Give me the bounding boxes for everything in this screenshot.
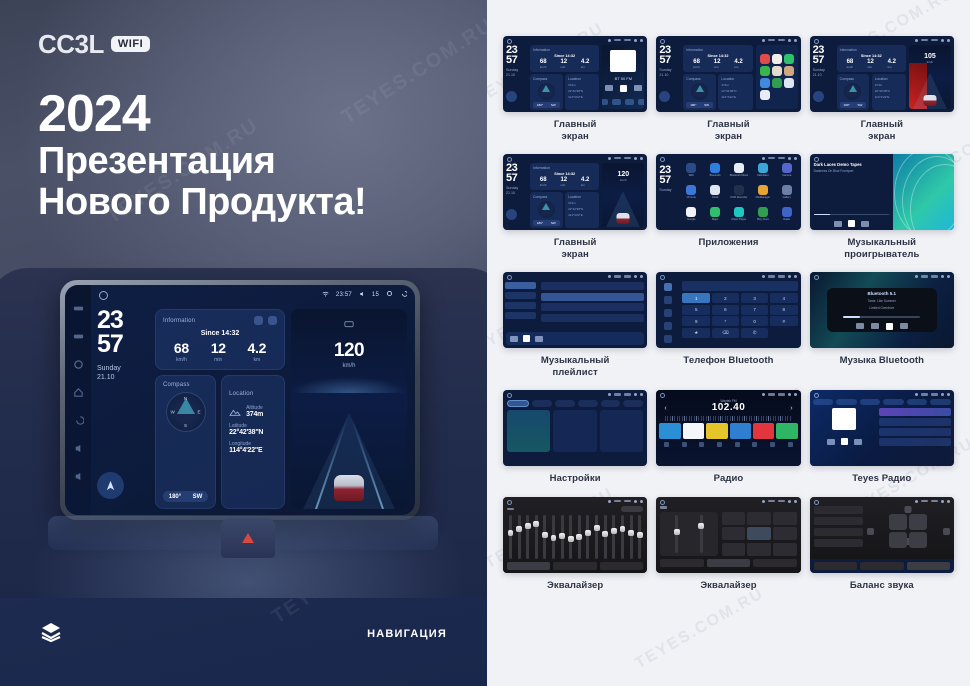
phone-tab[interactable] <box>664 296 672 304</box>
location-card[interactable]: Location 374m 22°42'38"N 114°4'22"E <box>718 74 752 110</box>
eq-preset-cell[interactable] <box>722 527 745 540</box>
app-icon[interactable] <box>784 78 794 88</box>
dialpad-key[interactable]: 9 <box>682 316 710 326</box>
balance-row[interactable] <box>814 539 863 547</box>
rail-back-icon[interactable] <box>73 413 84 424</box>
screenshot-thumbnail[interactable]: 23 57 Sunday 21.10 Information Since 14:… <box>503 154 647 230</box>
screenshot-thumbnail[interactable] <box>503 390 647 466</box>
compass-card[interactable]: Compass 180° SW <box>683 74 716 110</box>
eq-band-slider[interactable] <box>552 515 555 559</box>
dialpad-key[interactable]: # <box>770 316 798 326</box>
grid-item[interactable]: Баланс звука <box>810 497 954 592</box>
eq-slider-knob[interactable] <box>620 526 626 532</box>
rail-gear-icon[interactable] <box>73 357 84 368</box>
eq-slider-knob[interactable] <box>508 530 514 536</box>
app-icon[interactable] <box>710 163 720 173</box>
settings-tab[interactable] <box>555 400 575 407</box>
head-unit-screen[interactable]: 23:57 15 <box>65 285 415 515</box>
eq-slider-knob[interactable] <box>568 536 574 542</box>
back-icon[interactable] <box>947 393 950 396</box>
eq-slider-knob[interactable] <box>602 531 608 537</box>
screenshot-thumbnail[interactable]: 23 57 Sunday 21.10 Information Since 14:… <box>656 36 800 112</box>
back-icon[interactable] <box>947 39 950 42</box>
eq-footer-button[interactable] <box>660 559 703 567</box>
radio-preset[interactable] <box>776 423 797 439</box>
app-icon[interactable] <box>784 66 794 76</box>
location-card[interactable]: Location 374m 22°42'38"N 114°4'22"E <box>872 74 906 110</box>
app-item[interactable]: Camera <box>776 163 798 183</box>
app-shortcuts-widget[interactable] <box>756 45 798 109</box>
play-pause-button[interactable] <box>848 220 855 227</box>
back-icon[interactable] <box>640 500 643 503</box>
balance-up-button[interactable] <box>905 506 912 513</box>
dialpad-key[interactable]: 1 <box>682 293 710 303</box>
radio-toolbar-icon[interactable] <box>752 442 757 447</box>
app-icon[interactable] <box>772 78 782 88</box>
eq-band-slider[interactable] <box>526 515 529 559</box>
home-icon[interactable] <box>814 275 819 280</box>
teyes-radio-tab[interactable] <box>836 399 857 405</box>
radio-toolbar-icon[interactable] <box>735 442 740 447</box>
balance-left-button[interactable] <box>867 528 874 535</box>
prev-station-button[interactable]: ‹ <box>664 405 666 412</box>
information-card[interactable]: Information Since 14:32 68 km/h 12 min 4… <box>837 45 906 72</box>
app-icon[interactable] <box>686 207 696 217</box>
hud-panel[interactable]: 120 km/h <box>291 309 407 509</box>
next-button[interactable] <box>900 323 908 329</box>
app-item[interactable]: Radio <box>776 207 798 227</box>
gear-icon[interactable] <box>941 275 944 278</box>
prev-button[interactable] <box>834 221 842 227</box>
tab[interactable] <box>602 99 608 105</box>
eq-band-slider[interactable] <box>561 515 564 559</box>
prev-button[interactable] <box>510 336 518 342</box>
app-item[interactable]: Clock <box>704 185 726 205</box>
back-icon[interactable] <box>794 275 797 278</box>
track-row[interactable] <box>541 303 645 311</box>
grid-item[interactable]: 123456789*0# ★ ⌫ ✆ Телефон Bluetooth <box>656 272 800 378</box>
gear-icon[interactable] <box>788 393 791 396</box>
settings-tab[interactable] <box>578 400 598 407</box>
phone-tab[interactable] <box>664 309 672 317</box>
app-icon[interactable] <box>782 207 792 217</box>
now-playing-bar[interactable] <box>506 332 644 345</box>
eq-preset-cell[interactable] <box>747 512 770 525</box>
screen-side-rail[interactable] <box>65 285 91 515</box>
balance-row[interactable] <box>814 506 863 514</box>
dialpad-key[interactable]: 5 <box>682 305 710 315</box>
app-item[interactable]: Google <box>680 207 702 227</box>
grid-item[interactable]: Waytek FM ‹ 102.40 › Радио <box>656 390 800 485</box>
eq-preset-cell[interactable] <box>747 543 770 556</box>
teyes-radio-tab[interactable] <box>860 399 881 405</box>
grid-item[interactable]: 23 57 Sunday 21.10 Information Since 14:… <box>810 36 954 142</box>
backspace-button[interactable]: ⌫ <box>712 328 740 338</box>
dialpad-key[interactable]: 2 <box>712 293 740 303</box>
information-card[interactable]: Information Since 14:32 68 km/h 12 min 4… <box>530 45 599 72</box>
radio-toolbar-icon[interactable] <box>699 442 704 447</box>
bass-slider[interactable] <box>675 515 678 553</box>
grid-item[interactable]: Эквалайзер <box>656 497 800 592</box>
screenshot-thumbnail[interactable] <box>503 497 647 573</box>
screenshot-thumbnail[interactable] <box>656 497 800 573</box>
gear-icon[interactable] <box>941 39 944 42</box>
eq-slider-knob[interactable] <box>637 532 643 538</box>
station-row[interactable] <box>879 408 951 416</box>
gear-icon[interactable] <box>386 290 393 299</box>
eq-band-slider[interactable] <box>638 515 641 559</box>
number-input[interactable] <box>682 281 797 291</box>
rail-mode-icon[interactable] <box>73 329 84 340</box>
settings-tab[interactable] <box>623 400 643 407</box>
play-pause-button[interactable] <box>871 323 879 329</box>
app-item[interactable]: Maps <box>704 207 726 227</box>
back-icon[interactable] <box>794 39 797 42</box>
grid-item[interactable]: Музыкальныйплейлист <box>503 272 647 378</box>
refresh-icon[interactable] <box>254 316 263 325</box>
rail-home-icon[interactable] <box>73 385 84 396</box>
app-icon[interactable] <box>782 185 792 195</box>
eq-slider-knob[interactable] <box>585 530 591 536</box>
gear-icon[interactable] <box>941 500 944 503</box>
back-icon[interactable] <box>640 393 643 396</box>
balance-row[interactable] <box>814 517 863 525</box>
app-icon[interactable] <box>760 66 770 76</box>
screenshot-thumbnail[interactable]: 23 57 Sunday WiFi Bluetooth Bluetooth Mu… <box>656 154 800 230</box>
radio-preset[interactable] <box>730 423 751 439</box>
treble-slider[interactable] <box>700 515 703 553</box>
radio-preset[interactable] <box>706 423 727 439</box>
balance-footer-button[interactable] <box>860 562 903 570</box>
dialpad-key[interactable]: * <box>712 316 740 326</box>
compass-card[interactable]: Compass 180° SW <box>530 74 563 110</box>
eq-footer-button[interactable] <box>707 559 750 567</box>
favorites-button[interactable]: ★ <box>682 328 710 338</box>
eq-slider-knob[interactable] <box>594 525 600 531</box>
balance-footer-button[interactable] <box>814 562 857 570</box>
screenshot-thumbnail[interactable]: Bluetooth 5.1 Taste. Like Summer Limited… <box>810 272 954 348</box>
progress-bar[interactable] <box>843 316 920 318</box>
app-icon[interactable] <box>758 163 768 173</box>
screenshot-thumbnail[interactable] <box>810 497 954 573</box>
app-icon[interactable] <box>686 185 696 195</box>
eq-band-slider[interactable] <box>595 515 598 559</box>
app-item[interactable]: FileManager <box>752 185 774 205</box>
balance-footer-button[interactable] <box>907 562 950 570</box>
next-button[interactable] <box>861 221 869 227</box>
teyes-radio-tab[interactable] <box>883 399 904 405</box>
rail-volume-up-icon[interactable] <box>73 469 84 480</box>
eq-band-slider[interactable] <box>621 515 624 559</box>
clock-minutes: 57 <box>506 55 527 65</box>
dialpad-key[interactable]: 6 <box>712 305 740 315</box>
app-item[interactable]: Calculator <box>752 163 774 183</box>
eq-slider-knob[interactable] <box>611 528 617 534</box>
dialpad: 123456789*0# ★ ⌫ ✆ <box>682 293 797 338</box>
phone-tab[interactable] <box>664 335 672 343</box>
gear-icon[interactable] <box>788 500 791 503</box>
hud-panel[interactable]: 105 km/h <box>909 45 951 109</box>
grid-item[interactable]: Эквалайзер <box>503 497 647 592</box>
eq-preset-cell[interactable] <box>747 527 770 540</box>
eq-band-slider[interactable] <box>612 515 615 559</box>
eq-band-slider[interactable] <box>578 515 581 559</box>
home-icon[interactable] <box>660 157 665 162</box>
tab[interactable] <box>612 99 621 105</box>
track-row[interactable] <box>541 282 645 290</box>
compass-card[interactable]: Compass 180° SW <box>837 74 870 110</box>
eq-band-slider[interactable] <box>604 515 607 559</box>
information-card[interactable]: Information Since 14:32 68 km/h 12 min 4… <box>530 163 599 190</box>
eq-slider-knob[interactable] <box>576 534 582 540</box>
app-icon[interactable] <box>710 185 720 195</box>
eq-slider-knob[interactable] <box>516 526 522 532</box>
compass-card[interactable]: Compass N S E W <box>155 375 216 509</box>
radio-toolbar-icon[interactable] <box>788 442 793 447</box>
app-icon[interactable] <box>734 163 744 173</box>
dialpad-key[interactable]: 8 <box>770 305 798 315</box>
app-item[interactable]: Chrome <box>680 185 702 205</box>
back-icon[interactable] <box>794 393 797 396</box>
screenshot-thumbnail[interactable]: 23 57 Sunday 21.10 Information Since 14:… <box>503 36 647 112</box>
back-icon[interactable] <box>640 157 643 160</box>
back-icon[interactable] <box>640 275 643 278</box>
app-icon[interactable] <box>734 185 744 195</box>
settings-tab[interactable] <box>532 400 552 407</box>
dialpad-key[interactable]: 7 <box>741 305 769 315</box>
eq-preset-cell[interactable] <box>722 512 745 525</box>
stop-button[interactable] <box>841 438 848 445</box>
back-icon[interactable] <box>947 275 950 278</box>
dialpad-key[interactable]: 3 <box>741 293 769 303</box>
app-item[interactable]: DVR Recorder <box>728 185 750 205</box>
balance-row[interactable] <box>814 528 863 536</box>
app-item[interactable]: Bluetooth <box>704 163 726 183</box>
gear-icon[interactable] <box>634 157 637 160</box>
screenshot-thumbnail[interactable]: 123456789*0# ★ ⌫ ✆ <box>656 272 800 348</box>
screenshot-thumbnail[interactable]: Waytek FM ‹ 102.40 › <box>656 390 800 466</box>
radio-toolbar-icon[interactable] <box>664 442 669 447</box>
grid-item[interactable]: Bluetooth 5.1 Taste. Like Summer Limited… <box>810 272 954 378</box>
progress-bar[interactable] <box>814 214 890 216</box>
navigation-button[interactable] <box>97 472 124 499</box>
latitude-value: 22°42'38"N <box>568 207 596 211</box>
radio-preset[interactable] <box>659 423 680 439</box>
back-icon[interactable] <box>947 500 950 503</box>
app-icon[interactable] <box>758 207 768 217</box>
playlist-tab[interactable] <box>505 302 536 309</box>
settings-tab[interactable] <box>601 400 621 407</box>
app-icon[interactable] <box>734 207 744 217</box>
screenshot-thumbnail[interactable] <box>503 272 647 348</box>
eq-slider-knob[interactable] <box>525 523 531 529</box>
clock-day: Sunday <box>97 364 149 373</box>
screenshot-thumbnail[interactable]: 23 57 Sunday 21.10 Information Since 14:… <box>810 36 954 112</box>
rail-power-icon[interactable] <box>73 301 84 312</box>
eq-footer-button[interactable] <box>507 562 550 570</box>
gear-icon[interactable] <box>634 500 637 503</box>
dialpad-key[interactable]: 0 <box>741 316 769 326</box>
frequency-scale[interactable] <box>665 416 791 421</box>
eq-band-slider[interactable] <box>586 515 589 559</box>
eq-preset-cell[interactable] <box>722 543 745 556</box>
home-icon[interactable] <box>814 157 819 162</box>
prev-button[interactable] <box>605 85 613 91</box>
prev-button[interactable] <box>856 323 864 329</box>
grid-item[interactable]: 23 57 Sunday 21.10 Information Since 14:… <box>503 154 647 260</box>
grid-item[interactable]: 23 57 Sunday 21.10 Information Since 14:… <box>503 36 647 142</box>
gear-icon[interactable] <box>634 39 637 42</box>
navigation-button[interactable] <box>659 91 670 102</box>
eq-band-slider[interactable] <box>543 515 546 559</box>
app-icon[interactable] <box>758 185 768 195</box>
eq-preset-button[interactable] <box>621 506 643 512</box>
playback-controls <box>814 220 890 227</box>
hud-panel[interactable]: 120 km/h <box>602 163 644 227</box>
dialpad-key[interactable]: 4 <box>770 293 798 303</box>
radio-preset[interactable] <box>683 423 704 439</box>
home-icon[interactable] <box>99 291 108 300</box>
eq-preset-cell[interactable] <box>773 543 796 556</box>
app-icon[interactable] <box>782 163 792 173</box>
teyes-radio-tab[interactable] <box>930 399 951 405</box>
screenshot-thumbnail[interactable]: Dark Laces Demo Tapes Darkness On Blue F… <box>810 154 954 230</box>
rail-volume-down-icon[interactable] <box>73 441 84 452</box>
stop-button[interactable] <box>886 323 893 330</box>
app-item[interactable]: Play Store <box>752 207 774 227</box>
call-button[interactable]: ✆ <box>741 328 769 338</box>
app-item[interactable]: Bluetooth Music <box>728 163 750 183</box>
back-icon[interactable] <box>640 39 643 42</box>
play-pause-button[interactable] <box>523 335 530 342</box>
settings-card[interactable] <box>553 410 596 452</box>
phone-tab[interactable] <box>664 283 672 291</box>
grid-item[interactable]: 23 57 Sunday 21.10 Information Since 14:… <box>656 36 800 142</box>
gear-icon[interactable] <box>941 393 944 396</box>
track-row[interactable] <box>541 314 645 322</box>
eq-slider-knob[interactable] <box>551 535 557 541</box>
stop-button[interactable] <box>620 85 627 92</box>
radio-toolbar-icon[interactable] <box>770 442 775 447</box>
app-icon[interactable] <box>784 54 794 64</box>
expand-icon[interactable] <box>268 316 277 325</box>
next-button[interactable] <box>854 439 862 445</box>
playlist-tab[interactable] <box>505 282 536 289</box>
clock-date: 21.10 <box>813 73 834 78</box>
navigation-button[interactable] <box>506 209 517 220</box>
gear-icon[interactable] <box>634 393 637 396</box>
app-icon[interactable] <box>760 90 770 100</box>
app-item[interactable]: Music Player <box>728 207 750 227</box>
app-icon[interactable] <box>760 54 770 64</box>
settings-card[interactable] <box>600 410 643 452</box>
playlist-tab[interactable] <box>505 292 536 299</box>
location-card[interactable]: Location 374m 22°42'38"N 114°4'22"E <box>565 74 599 110</box>
eq-slider-knob[interactable] <box>559 533 565 539</box>
next-station-button[interactable]: › <box>790 405 792 412</box>
compass-card[interactable]: Compass 180° SW <box>530 192 563 228</box>
eq-footer-button[interactable] <box>600 562 643 570</box>
eq-slider-knob[interactable] <box>533 521 539 527</box>
gear-icon[interactable] <box>788 157 791 160</box>
back-icon[interactable] <box>400 290 407 299</box>
eq-band-slider[interactable] <box>518 515 521 559</box>
navigation-button[interactable] <box>813 91 824 102</box>
information-card[interactable]: Information Since 14:32 68 km/h 12 min 4… <box>683 45 752 72</box>
grid-item[interactable]: 23 57 Sunday WiFi Bluetooth Bluetooth Mu… <box>656 154 800 260</box>
teyes-radio-tab[interactable] <box>813 399 834 405</box>
eq-title <box>660 506 667 509</box>
settings-card[interactable] <box>507 410 550 452</box>
next-button[interactable] <box>634 85 642 91</box>
back-icon[interactable] <box>794 157 797 160</box>
app-icon[interactable] <box>772 66 782 76</box>
app-icon[interactable] <box>760 78 770 88</box>
media-widget[interactable]: BT 50 FM <box>602 45 644 109</box>
tab[interactable] <box>625 99 634 105</box>
eq-band-slider[interactable] <box>569 515 572 559</box>
app-icon[interactable] <box>710 207 720 217</box>
hazard-button[interactable] <box>221 518 275 558</box>
radio-preset[interactable] <box>753 423 774 439</box>
app-icon[interactable] <box>772 54 782 64</box>
eq-band-slider[interactable] <box>509 515 512 559</box>
prev-button[interactable] <box>827 439 835 445</box>
grid-item[interactable]: Teyes Радио <box>810 390 954 485</box>
grid-item[interactable]: Dark Laces Demo Tapes Darkness On Blue F… <box>810 154 954 260</box>
information-card[interactable]: Information Since 14:32 <box>155 309 285 370</box>
screenshot-thumbnail[interactable] <box>810 390 954 466</box>
tab[interactable] <box>638 99 644 105</box>
information-title: Information <box>163 318 195 324</box>
eq-footer-button[interactable] <box>753 559 796 567</box>
settings-tab[interactable] <box>507 400 529 407</box>
gear-icon[interactable] <box>634 275 637 278</box>
playlist-tab[interactable] <box>505 312 536 319</box>
track-row[interactable] <box>541 293 645 301</box>
eq-band-slider[interactable] <box>630 515 633 559</box>
radio-toolbar-icon[interactable] <box>682 442 687 447</box>
station-row[interactable] <box>879 418 951 426</box>
app-item[interactable]: WiFi <box>680 163 702 183</box>
location-card[interactable]: Location 374m 22°42'38"N 114°4'22"E <box>565 192 599 228</box>
location-card[interactable]: Location Altitude 374m <box>221 375 285 509</box>
teyes-radio-tab[interactable] <box>907 399 928 405</box>
station-row[interactable] <box>879 428 951 436</box>
eq-footer-button[interactable] <box>553 562 596 570</box>
app-icon[interactable] <box>686 163 696 173</box>
balance-pad[interactable] <box>889 514 927 548</box>
stat-unit: km/h <box>540 183 547 187</box>
navigation-button[interactable] <box>506 91 517 102</box>
eq-slider-knob[interactable] <box>542 532 548 538</box>
phone-tab[interactable] <box>664 322 672 330</box>
eq-slider-knob[interactable] <box>628 530 634 536</box>
gear-icon[interactable] <box>788 275 791 278</box>
grid-item[interactable]: Настройки <box>503 390 647 485</box>
eq-band-slider[interactable] <box>535 515 538 559</box>
back-icon[interactable] <box>794 500 797 503</box>
app-item[interactable]: Gallery <box>776 185 798 205</box>
home-icon[interactable] <box>814 500 819 505</box>
gear-icon[interactable] <box>788 39 791 42</box>
station-row[interactable] <box>879 438 951 446</box>
radio-toolbar-icon[interactable] <box>717 442 722 447</box>
eq-preset-cell[interactable] <box>773 527 796 540</box>
eq-preset-cell[interactable] <box>773 512 796 525</box>
next-button[interactable] <box>535 336 543 342</box>
balance-right-button[interactable] <box>943 528 950 535</box>
